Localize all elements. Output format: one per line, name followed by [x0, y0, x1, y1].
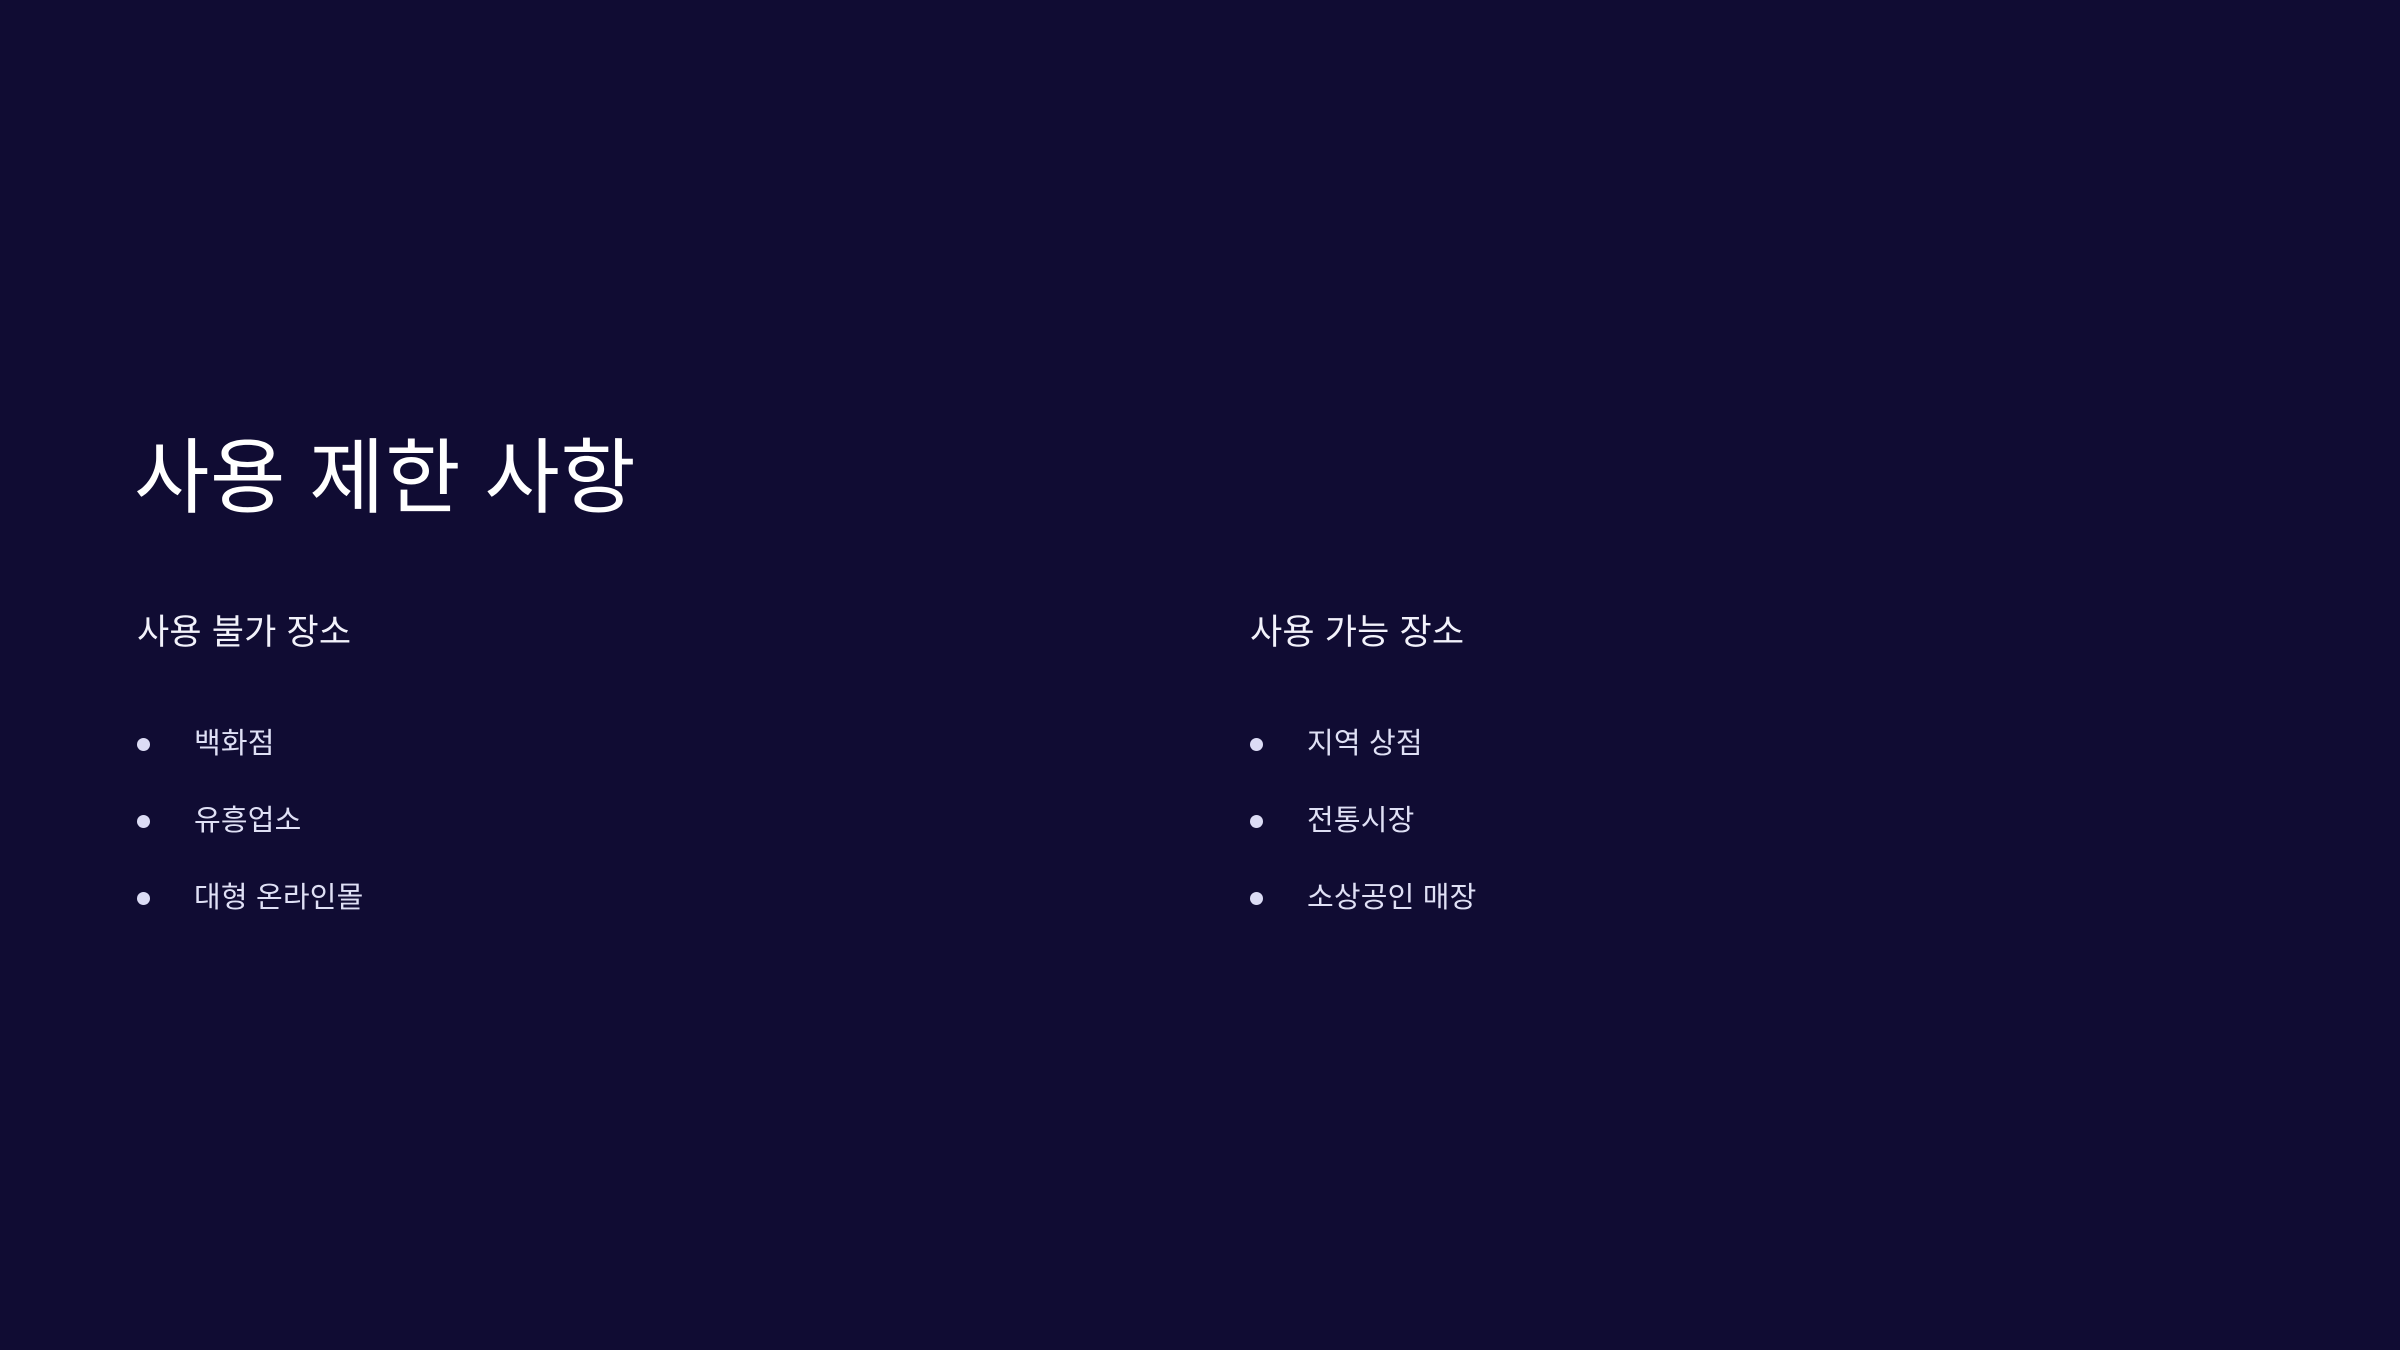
list-item-label: 유흥업소	[194, 803, 302, 839]
presentation-slide: 사용 제한 사항 사용 불가 장소 백화점 유흥업소 대형 온라인몰	[0, 0, 2400, 1350]
column-restricted-places: 사용 불가 장소 백화점 유흥업소 대형 온라인몰	[134, 610, 1247, 937]
bullet-dot-icon	[137, 738, 150, 751]
bullet-list-restricted: 백화점 유흥업소 대형 온라인몰	[134, 706, 1247, 937]
list-item: 지역 상점	[1247, 706, 2360, 783]
column-heading-allowed: 사용 가능 장소	[1250, 610, 2360, 656]
list-item: 유흥업소	[134, 783, 1247, 860]
list-item-label: 대형 온라인몰	[194, 880, 364, 916]
column-allowed-places: 사용 가능 장소 지역 상점 전통시장 소상공인 매장	[1247, 610, 2360, 937]
list-item-label: 지역 상점	[1307, 726, 1423, 762]
bullet-list-allowed: 지역 상점 전통시장 소상공인 매장	[1247, 706, 2360, 937]
list-item-label: 전통시장	[1307, 803, 1415, 839]
bullet-dot-icon	[137, 892, 150, 905]
bullet-dot-icon	[1250, 892, 1263, 905]
list-item: 전통시장	[1247, 783, 2360, 860]
bullet-dot-icon	[1250, 815, 1263, 828]
list-item-label: 백화점	[194, 726, 275, 762]
list-item: 대형 온라인몰	[134, 860, 1247, 937]
list-item-label: 소상공인 매장	[1307, 880, 1477, 916]
bullet-dot-icon	[1250, 738, 1263, 751]
list-item: 소상공인 매장	[1247, 860, 2360, 937]
two-column-body: 사용 불가 장소 백화점 유흥업소 대형 온라인몰 사용 가능 장소	[134, 610, 2294, 937]
bullet-dot-icon	[137, 815, 150, 828]
list-item: 백화점	[134, 706, 1247, 783]
page-title: 사용 제한 사항	[134, 431, 636, 528]
column-heading-restricted: 사용 불가 장소	[137, 610, 1247, 656]
